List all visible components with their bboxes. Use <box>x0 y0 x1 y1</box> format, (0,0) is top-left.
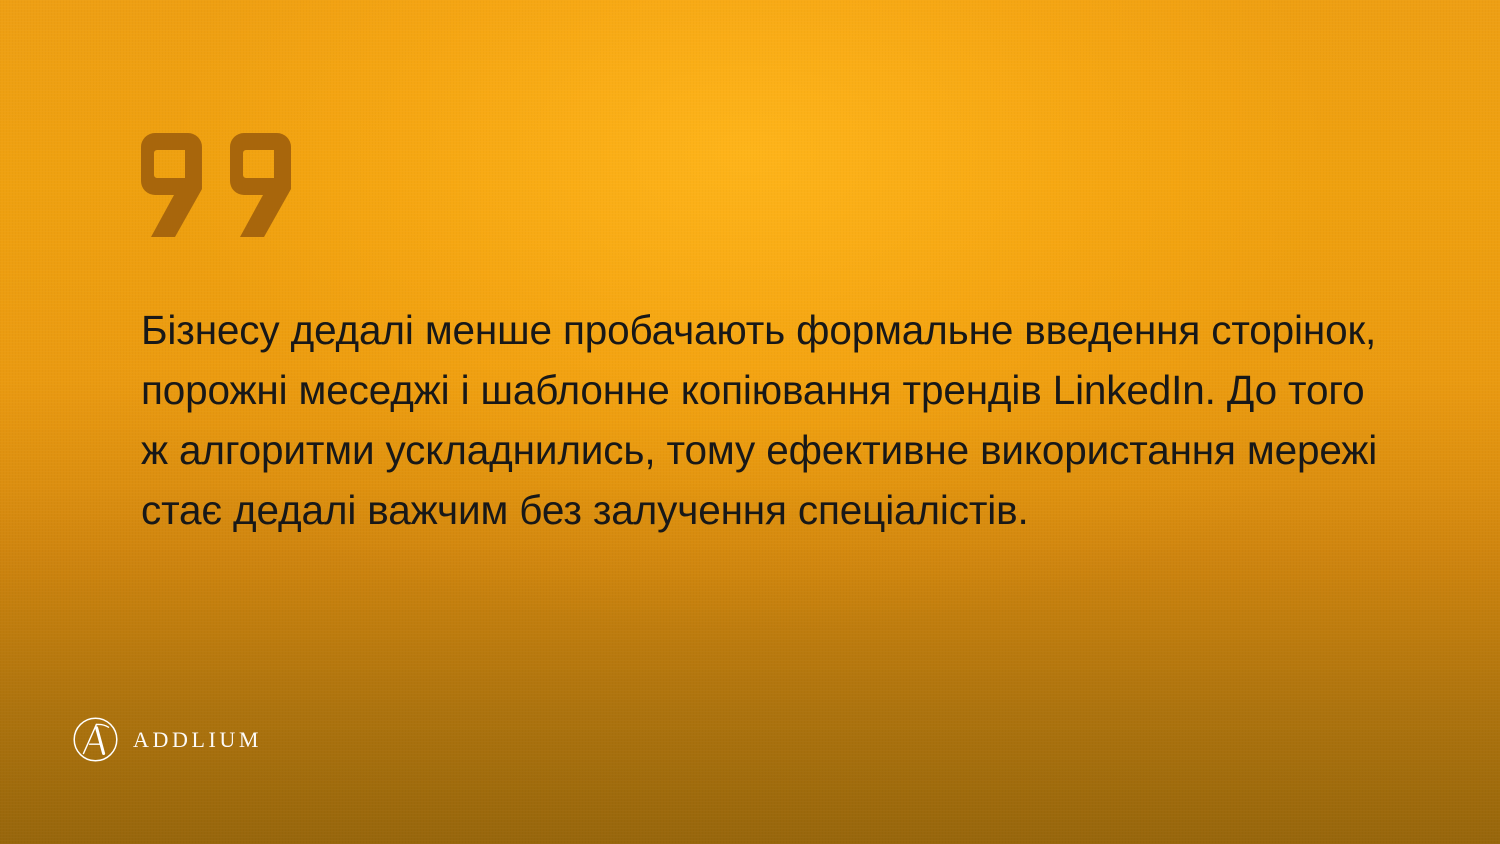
brand-logo: ADDLIUM <box>72 716 262 763</box>
quote-slide: Бізнесу дедалі менше пробачають формальн… <box>0 0 1500 844</box>
closing-double-quote-icon <box>141 133 291 237</box>
addlium-wordmark: ADDLIUM <box>133 729 262 751</box>
addlium-monogram-icon <box>72 716 119 763</box>
quote-text: Бізнесу дедалі менше пробачають формальн… <box>141 300 1381 540</box>
